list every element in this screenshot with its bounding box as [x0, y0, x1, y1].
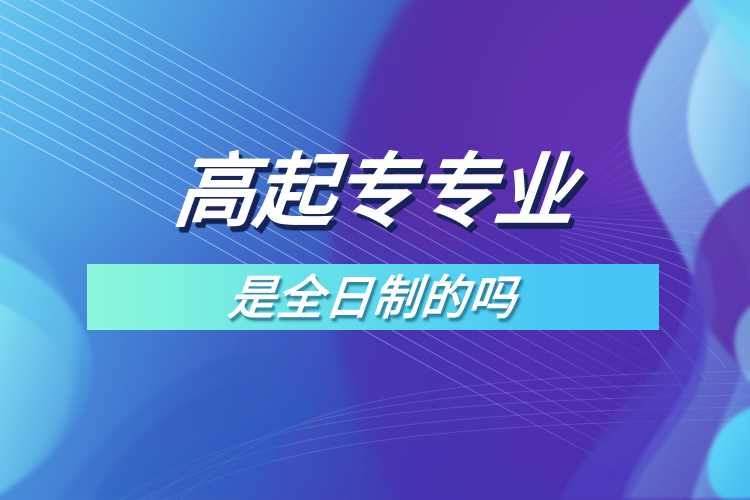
- title-block: 高起专专业: [0, 152, 750, 232]
- page-subtitle: 是全日制的吗: [227, 274, 520, 321]
- page-title: 高起专专业: [171, 152, 579, 232]
- promo-banner: 高起专专业 是全日制的吗: [0, 0, 750, 500]
- subtitle-block: 是全日制的吗: [87, 264, 659, 330]
